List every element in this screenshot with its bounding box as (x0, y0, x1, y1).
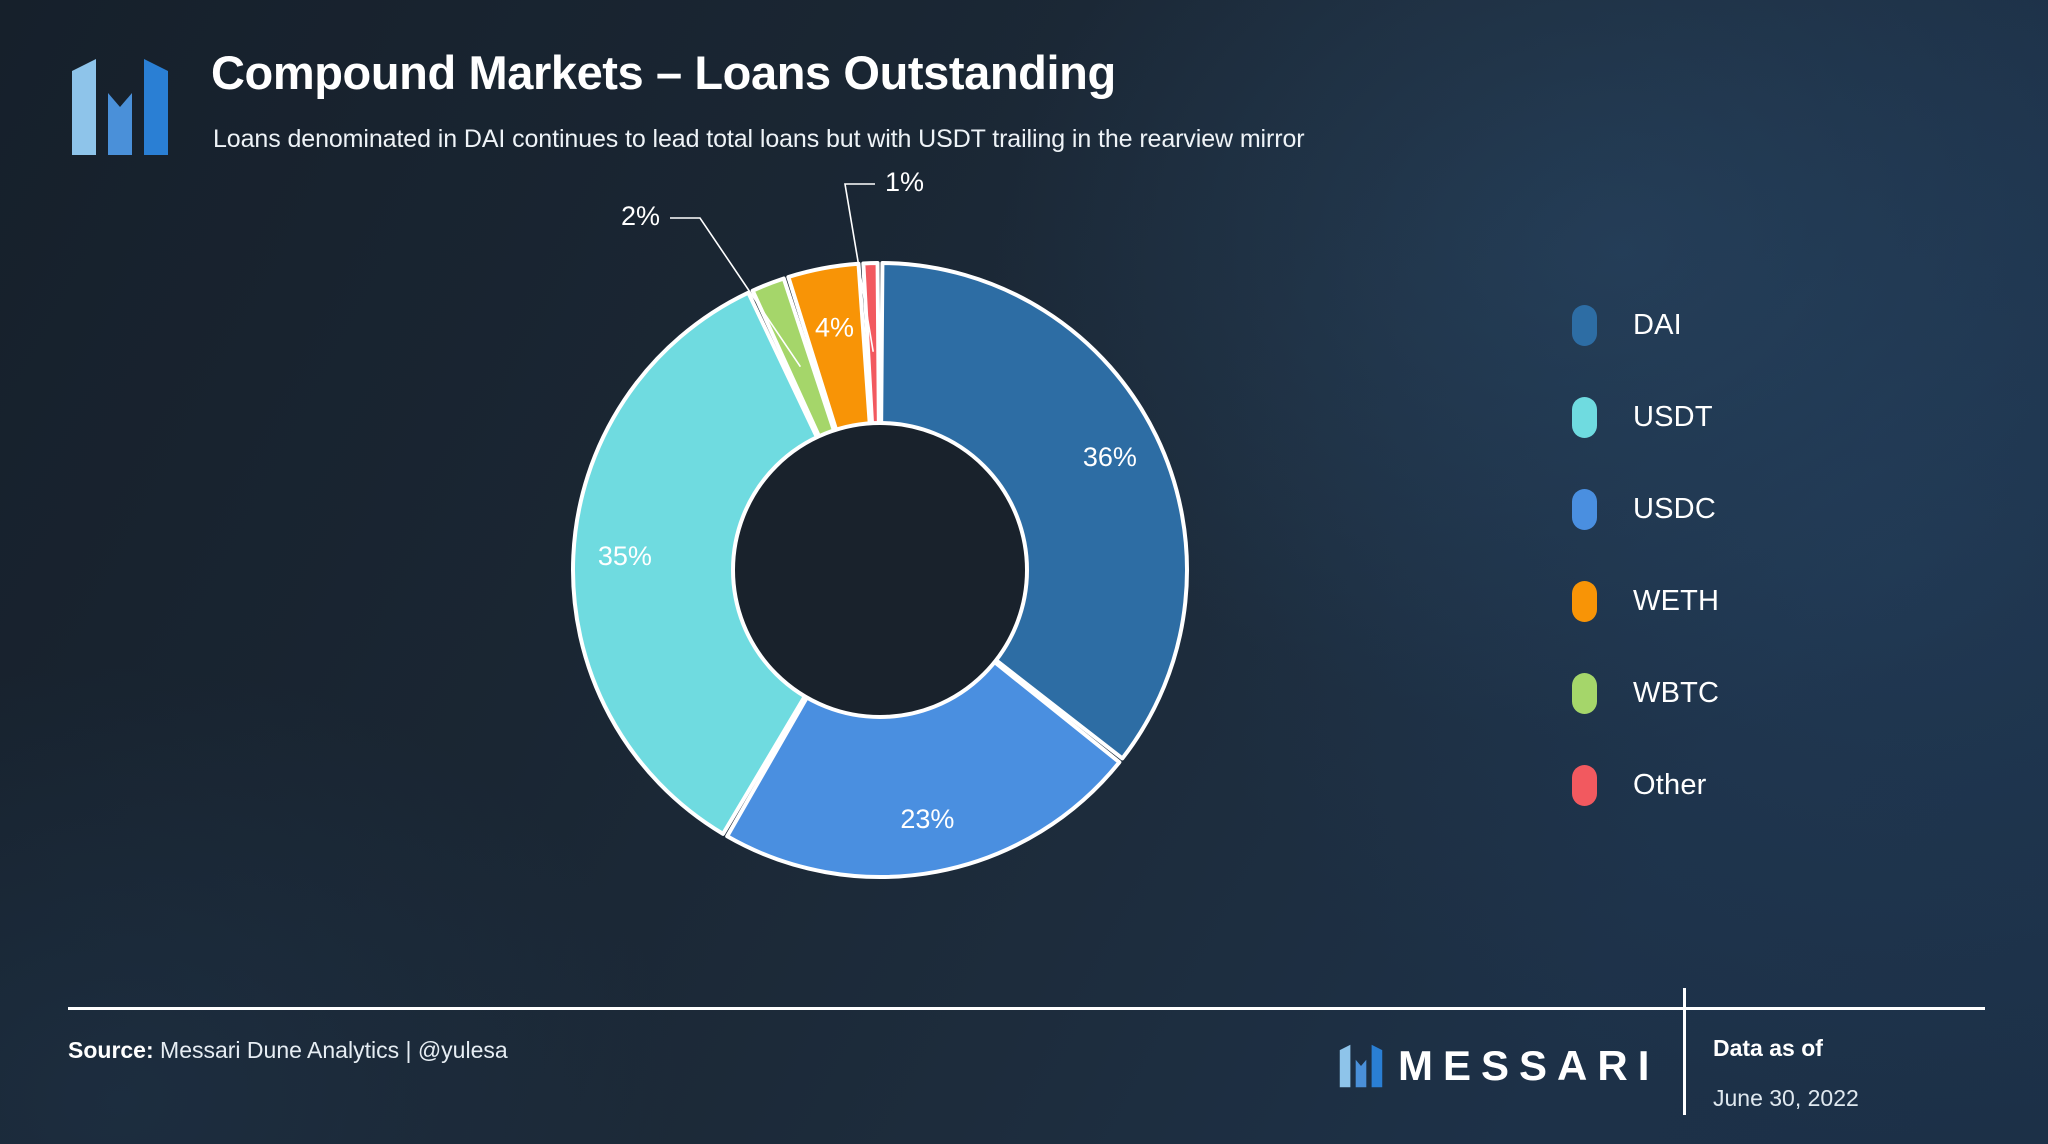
chart-canvas: Compound Markets – Loans Outstanding Loa… (0, 0, 2048, 1144)
legend-item-dai[interactable]: DAI (1572, 305, 1719, 345)
legend-swatch-icon (1572, 397, 1597, 438)
legend-item-label: USDC (1633, 493, 1716, 526)
footer-divider-vertical (1683, 988, 1686, 1115)
brand-wordmark: MESSARI (1398, 1045, 1659, 1087)
legend-swatch-icon (1572, 765, 1597, 806)
donut-hole (733, 423, 1027, 717)
slice-value-other: 1% (885, 167, 924, 197)
data-as-of-label: Data as of (1713, 1035, 1823, 1062)
legend-swatch-icon (1572, 673, 1597, 714)
legend-item-weth[interactable]: WETH (1572, 581, 1719, 621)
legend-item-other[interactable]: Other (1572, 765, 1719, 805)
source-note: Source: Messari Dune Analytics | @yulesa (68, 1037, 508, 1064)
page-title: Compound Markets – Loans Outstanding (211, 45, 1116, 100)
messari-logo-icon (1338, 1043, 1384, 1089)
legend-item-wbtc[interactable]: WBTC (1572, 673, 1719, 713)
legend-item-label: WETH (1633, 585, 1719, 618)
legend-item-usdc[interactable]: USDC (1572, 489, 1719, 529)
source-text: Messari Dune Analytics | @yulesa (160, 1037, 508, 1063)
messari-logo-icon (68, 55, 172, 159)
donut-chart: 36%23%35%4%2%1% (515, 200, 1275, 960)
legend-swatch-icon (1572, 305, 1597, 346)
legend-item-label: Other (1633, 769, 1707, 802)
source-label: Source: (68, 1037, 154, 1063)
donut-chart-svg: 36%23%35%4%2%1% (515, 200, 1275, 960)
slice-value-usdt: 35% (598, 541, 652, 571)
slice-value-weth: 4% (815, 312, 854, 342)
brand-footer: MESSARI (1338, 1043, 1659, 1089)
slice-value-dai: 36% (1083, 442, 1137, 472)
legend-item-label: WBTC (1633, 677, 1719, 710)
page-subtitle: Loans denominated in DAI continues to le… (213, 125, 1305, 154)
legend-item-label: DAI (1633, 309, 1682, 342)
legend-swatch-icon (1572, 581, 1597, 622)
slice-value-usdc: 23% (900, 804, 954, 834)
legend-item-usdt[interactable]: USDT (1572, 397, 1719, 437)
legend-swatch-icon (1572, 489, 1597, 530)
slice-value-wbtc: 2% (621, 201, 660, 231)
data-as-of-value: June 30, 2022 (1713, 1085, 1859, 1112)
legend-item-label: USDT (1633, 401, 1713, 434)
footer-divider-horizontal (68, 1007, 1985, 1010)
chart-legend: DAIUSDTUSDCWETHWBTCOther (1572, 305, 1719, 805)
